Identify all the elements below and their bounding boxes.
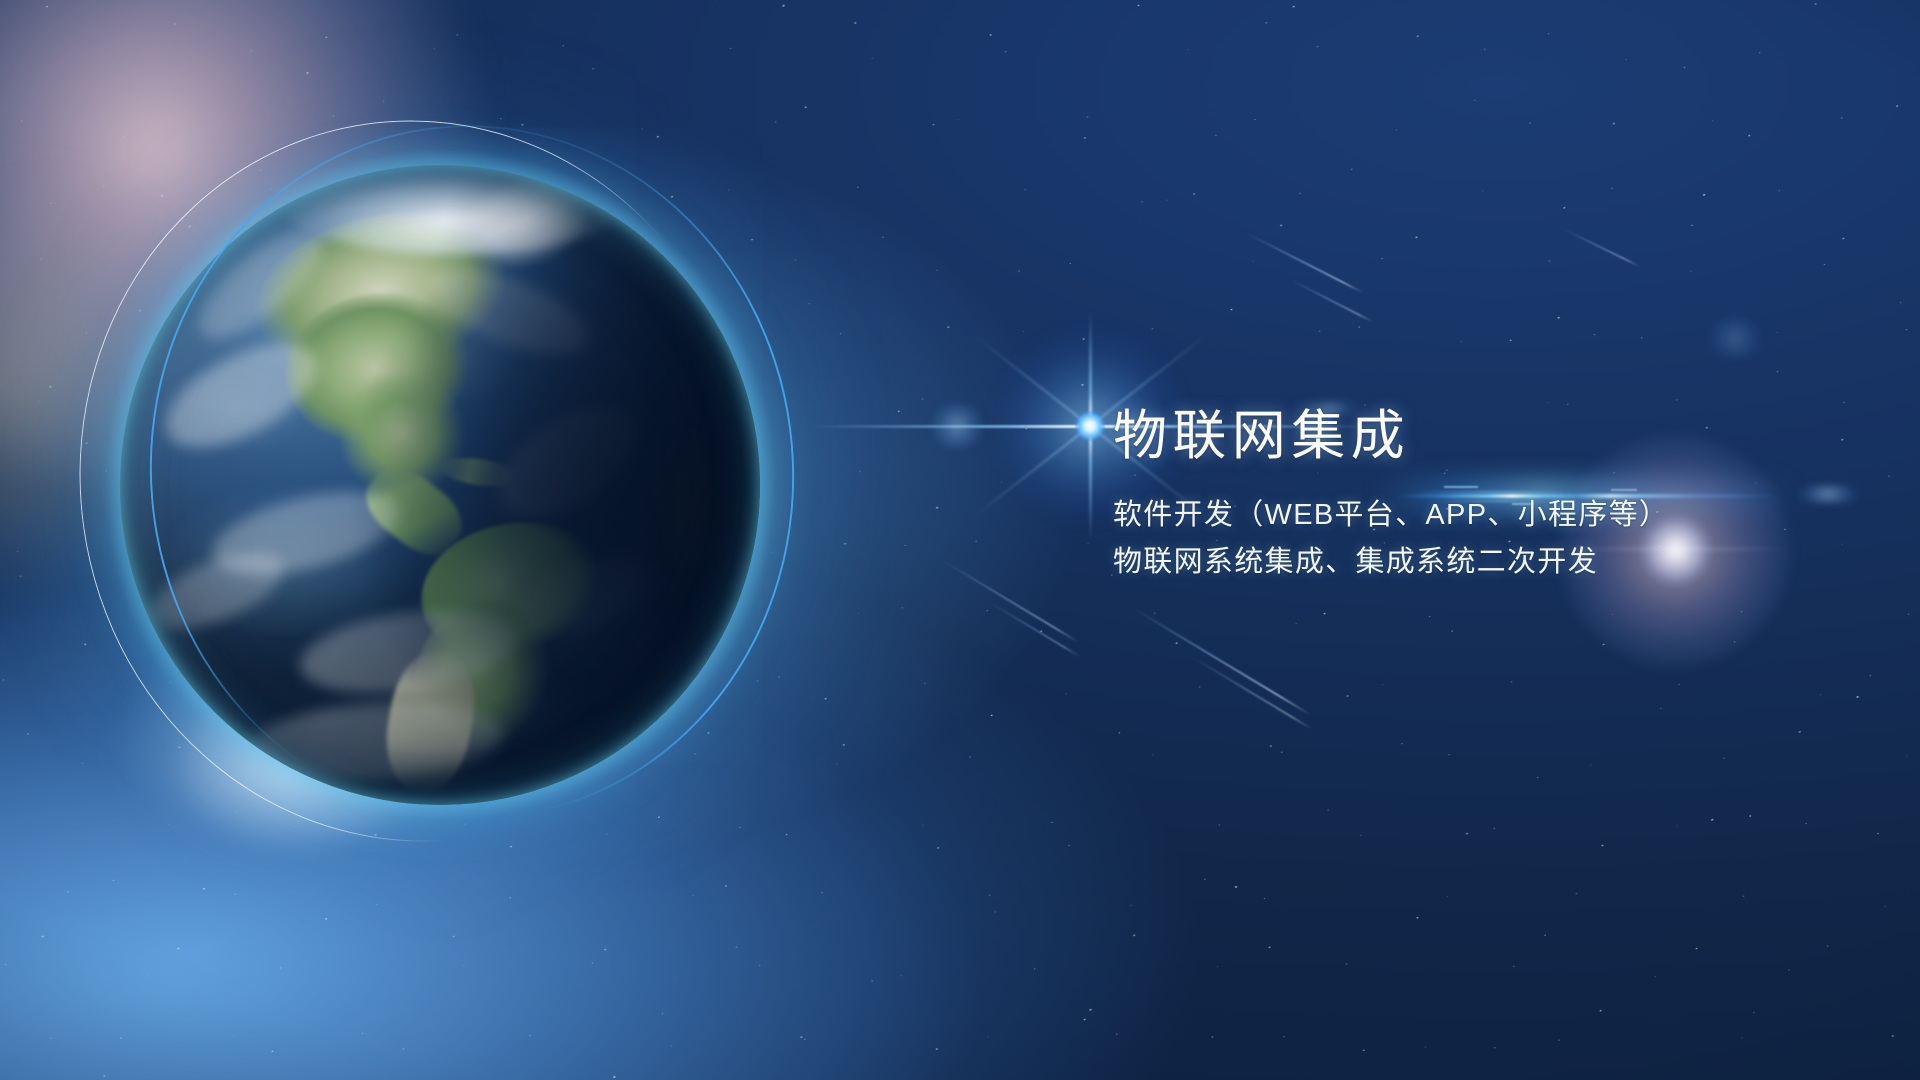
hero-subtitle-2: 物联网系统集成、集成系统二次开发 — [1113, 539, 1873, 586]
hero-subtitle-1: 软件开发（WEB平台、APP、小程序等） — [1113, 492, 1873, 539]
hero-banner: 物联网集成 软件开发（WEB平台、APP、小程序等） 物联网系统集成、集成系统二… — [0, 0, 1920, 1080]
hero-subtitle-group: 软件开发（WEB平台、APP、小程序等） 物联网系统集成、集成系统二次开发 — [1113, 492, 1873, 586]
hero-text-block: 物联网集成 软件开发（WEB平台、APP、小程序等） 物联网系统集成、集成系统二… — [1113, 406, 1873, 586]
page-title: 物联网集成 — [1113, 406, 1873, 466]
